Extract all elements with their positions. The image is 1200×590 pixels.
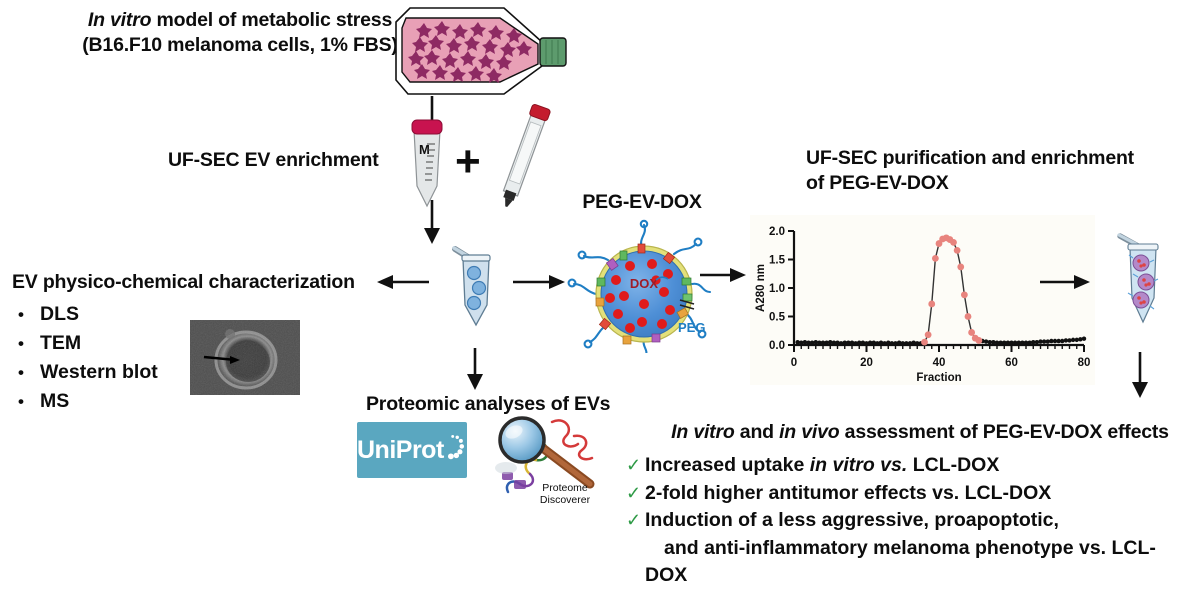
heading-ev-characterization: EV physico-chemical characterization: [12, 270, 382, 295]
check-pre: Increased uptake: [645, 454, 810, 476]
page-title-line2: (B16.F10 melanoma cells, 1% FBS): [82, 34, 397, 56]
list-item: • DLS: [18, 300, 218, 329]
bullet-icon: •: [18, 387, 40, 416]
label-ufsec-ev-enrichment: UF-SEC EV enrichment: [168, 148, 398, 173]
proteome-discoverer-label: Proteome Discoverer: [524, 482, 606, 506]
x-tick-label: 60: [1005, 357, 1018, 369]
x-tick-label: 20: [860, 357, 873, 369]
heading-ufsec-line1: UF-SEC purification and enrichment: [806, 147, 1134, 169]
heading-assessment: In vitro and in vivo assessment of PEG-E…: [650, 420, 1190, 445]
cell-culture-flask-icon: [392, 2, 582, 102]
arrow-product-to-assessment: [1128, 352, 1152, 403]
bullet-icon: •: [18, 329, 40, 358]
arrow-to-proteomics: [463, 348, 487, 395]
heading-ufsec-line2: of PEG-EV-DOX: [806, 172, 949, 194]
ev-eppendorf-tube-icon: [445, 245, 505, 350]
y-tick-label: 0.5: [769, 312, 786, 324]
check-pre: Induction of a less aggressive, proapopt…: [645, 509, 1059, 531]
vesicle-peg-label: PEG: [678, 320, 705, 335]
chromatogram-chart: 0.00.51.01.52.0020406080FractionA280 nm: [750, 215, 1095, 385]
bullet-icon: •: [18, 358, 40, 387]
plus-sign: +: [455, 140, 481, 184]
assessment-heading-invivo: in vivo: [779, 421, 839, 443]
bullet-label: TEM: [40, 329, 81, 358]
list-item: • MS: [18, 387, 218, 416]
arrow-to-characterization: [377, 272, 429, 297]
check-label: Induction of a less aggressive, proapopt…: [645, 507, 1192, 590]
vesicle-dox-text: DOX: [630, 276, 659, 291]
uniprot-logo-text: UniProt: [357, 436, 444, 465]
assessment-heading-rest: assessment of PEG-EV-DOX effects: [839, 421, 1168, 443]
y-tick-label: 1.5: [769, 255, 786, 267]
purified-product-tube-icon: [1112, 232, 1182, 362]
list-item: • TEM: [18, 329, 218, 358]
list-item: ✓ 2-fold higher antitumor effects vs. LC…: [626, 480, 1192, 508]
x-tick-label: 0: [791, 357, 797, 369]
series-peak: [921, 234, 982, 345]
tem-micrograph-image: [190, 320, 300, 395]
bullet-label: MS: [40, 387, 69, 416]
x-tick-label: 40: [933, 357, 946, 369]
sec-column-icon: [490, 100, 560, 215]
x-axis-label: Fraction: [916, 372, 961, 384]
y-axis-label: A280 nm: [755, 264, 767, 312]
pd-label-line2: Discoverer: [540, 494, 590, 506]
check-label: Increased uptake in vitro vs. LCL-DOX: [645, 452, 1192, 480]
uniprot-logo: UniProt: [357, 422, 467, 478]
y-tick-label: 2.0: [769, 226, 785, 238]
assessment-heading-and: and: [735, 421, 780, 443]
bullet-label: DLS: [40, 300, 79, 329]
check-label: 2-fold higher antitumor effects vs. LCL-…: [645, 480, 1192, 508]
y-tick-label: 0.0: [769, 340, 785, 352]
assessment-check-list: ✓ Increased uptake in vitro vs. LCL-DOX …: [626, 452, 1192, 590]
check-em: in vitro vs.: [810, 454, 908, 476]
check-pre: 2-fold higher antitumor effects vs. LCL-…: [645, 482, 1051, 504]
check-post: LCL-DOX: [907, 454, 999, 476]
x-tick-label: 80: [1078, 357, 1091, 369]
y-tick-label: 1.0: [769, 283, 785, 295]
check-icon: ✓: [626, 452, 645, 480]
arrow-isolation-to-ev-tube: [420, 200, 444, 249]
page-title-in-vitro-model: In vitro model of metabolic stress (B16.…: [60, 8, 420, 58]
pd-label-line1: Proteome: [542, 482, 588, 494]
bullet-icon: •: [18, 300, 40, 329]
check-icon: ✓: [626, 507, 645, 535]
list-item: ✓ Increased uptake in vitro vs. LCL-DOX: [626, 452, 1192, 480]
list-item: • Western blot: [18, 358, 218, 387]
page-title-rest: model of metabolic stress: [151, 9, 392, 31]
page-title-italic: In vitro: [88, 9, 151, 31]
check-second-line: and anti-inflammatory melanoma phenotype…: [645, 537, 1156, 587]
assessment-heading-invitro: In vitro: [671, 421, 734, 443]
label-peg-ev-dox: PEG-EV-DOX: [552, 190, 732, 215]
check-icon: ✓: [626, 480, 645, 508]
characterization-bullet-list: • DLS • TEM • Western blot • MS: [18, 300, 218, 416]
bullet-label: Western blot: [40, 358, 158, 387]
arrow-vesicle-to-chart: [700, 265, 746, 290]
arrow-chart-to-product: [1040, 272, 1090, 297]
heading-ufsec-purification: UF-SEC purification and enrichment of PE…: [806, 146, 1156, 196]
list-item: ✓ Induction of a less aggressive, proapo…: [626, 507, 1192, 590]
